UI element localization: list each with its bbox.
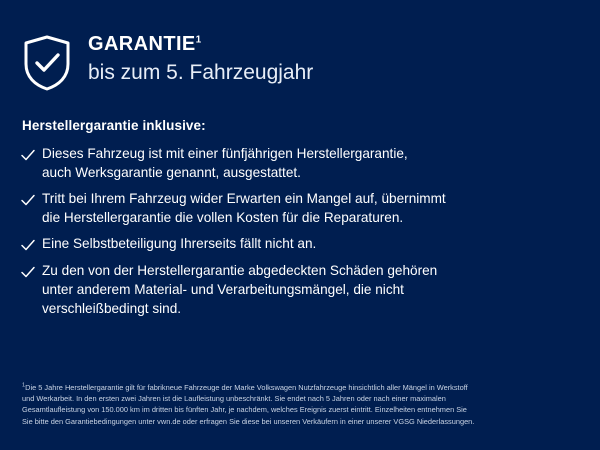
intro-heading: Herstellergarantie inklusive:	[22, 118, 206, 133]
list-item-text: Eine Selbstbeteiligung Ihrerseits fällt …	[42, 234, 316, 253]
warranty-banner: GARANTIE1 bis zum 5. Fahrzeugjahr Herste…	[0, 0, 600, 450]
header-text-block: GARANTIE1 bis zum 5. Fahrzeugjahr	[88, 30, 313, 87]
list-item: Tritt bei Ihrem Fahrzeug wider Erwarten …	[20, 189, 580, 227]
checkmark-icon	[20, 146, 36, 164]
page-title: GARANTIE1	[88, 32, 313, 56]
footnote-line: und Werkarbeit. In den ersten zwei Jahre…	[22, 393, 584, 404]
banner-header: GARANTIE1 bis zum 5. Fahrzeugjahr	[22, 30, 313, 92]
footnote-line: Sie bitte den Garantiebedingungen unter …	[22, 416, 584, 427]
list-item-line: die Herstellergarantie die vollen Kosten…	[42, 208, 446, 227]
checkmark-icon	[20, 191, 36, 209]
list-item: Eine Selbstbeteiligung Ihrerseits fällt …	[20, 234, 580, 254]
footnote: 1Die 5 Jahre Herstellergarantie gilt für…	[22, 382, 584, 427]
checkmark-icon	[20, 263, 36, 281]
benefits-list: Dieses Fahrzeug ist mit einer fünfjährig…	[20, 144, 580, 325]
page-title-text: GARANTIE	[88, 33, 196, 55]
list-item-text: Zu den von der Herstellergarantie abgede…	[42, 261, 437, 318]
list-item-line: Dieses Fahrzeug ist mit einer fünfjährig…	[42, 144, 408, 163]
checkmark-icon	[20, 236, 36, 254]
list-item: Dieses Fahrzeug ist mit einer fünfjährig…	[20, 144, 580, 182]
list-item-line: Zu den von der Herstellergarantie abgede…	[42, 261, 437, 280]
list-item-line: verschleißbedingt sind.	[42, 299, 437, 318]
shield-check-icon	[22, 34, 72, 92]
list-item-line: Eine Selbstbeteiligung Ihrerseits fällt …	[42, 234, 316, 253]
page-subtitle: bis zum 5. Fahrzeugjahr	[88, 59, 313, 87]
list-item-text: Tritt bei Ihrem Fahrzeug wider Erwarten …	[42, 189, 446, 227]
list-item-line: auch Werksgarantie genannt, ausgestattet…	[42, 163, 408, 182]
footnote-line-text: Die 5 Jahre Herstellergarantie gilt für …	[25, 383, 468, 392]
list-item-line: unter anderem Material- und Verarbeitung…	[42, 280, 437, 299]
footnote-line: Gesamtlaufleistung von 150.000 km im dri…	[22, 404, 584, 415]
title-footnote-marker: 1	[196, 34, 202, 45]
list-item: Zu den von der Herstellergarantie abgede…	[20, 261, 580, 318]
list-item-line: Tritt bei Ihrem Fahrzeug wider Erwarten …	[42, 189, 446, 208]
footnote-line: 1Die 5 Jahre Herstellergarantie gilt für…	[22, 382, 584, 393]
list-item-text: Dieses Fahrzeug ist mit einer fünfjährig…	[42, 144, 408, 182]
